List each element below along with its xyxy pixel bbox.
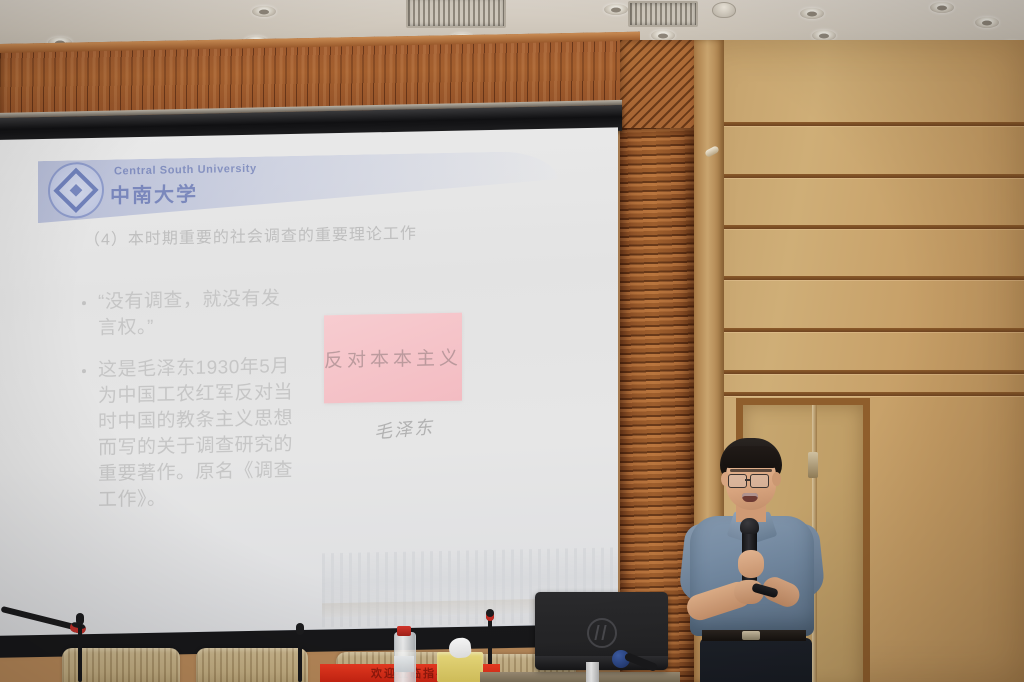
panel-divider — [694, 122, 1024, 126]
trousers — [700, 638, 812, 682]
projection-screen: Central South University 中南大学 （4）本时期重要的社… — [0, 127, 618, 648]
wall-corner-inlay — [620, 40, 698, 140]
eyebrows — [730, 469, 772, 472]
panel-divider — [694, 174, 1024, 178]
list-item: 这是毛泽东1930年5月为中国工农红军反对当时中国的教条主义思想而写的关于调查研… — [78, 354, 293, 514]
chair — [196, 648, 308, 682]
slide: Central South University 中南大学 （4）本时期重要的社… — [0, 127, 618, 648]
book-cover-image: 反对本本主义 — [324, 313, 462, 404]
ear-right — [772, 472, 781, 486]
logo-chinese-text: 中南大学 — [110, 178, 198, 209]
bottle-cap — [397, 626, 411, 636]
downlight-icon — [800, 8, 824, 19]
hair-fringe — [722, 446, 780, 468]
panel-divider — [694, 276, 1024, 280]
bottle-label — [394, 656, 414, 672]
downlight-icon — [930, 2, 954, 13]
mouth — [742, 493, 758, 502]
gooseneck-mic — [298, 630, 302, 682]
belt-buckle — [742, 631, 760, 640]
hp-monitor[interactable] — [535, 592, 668, 670]
downlight-icon — [975, 17, 999, 28]
screenshot-root: Central South University 中南大学 （4）本时期重要的社… — [0, 0, 1024, 682]
slide-title: （4）本时期重要的社会调查的重要理论工作 — [84, 219, 417, 250]
book-signature: 毛泽东 — [373, 413, 435, 444]
glasses-bridge — [745, 479, 751, 481]
hand-holding-microphone — [738, 550, 764, 578]
monitor-stand — [586, 662, 599, 682]
smoke-detector-icon — [712, 2, 736, 18]
tissue-sheet — [448, 637, 472, 659]
presenter — [676, 438, 836, 682]
slide-bullet-list: “没有调查，就没有发言权。” 这是毛泽东1930年5月为中国工农红军反对当时中国… — [78, 286, 293, 530]
panel-divider — [694, 225, 1024, 229]
list-item: “没有调查，就没有发言权。” — [78, 286, 293, 342]
glasses-lens-right — [750, 474, 769, 488]
book-cover-title: 反对本本主义 — [324, 343, 462, 373]
downlight-icon — [252, 6, 276, 17]
glasses-lens-left — [728, 474, 747, 488]
downlight-icon — [604, 4, 628, 15]
panel-divider — [694, 370, 1024, 374]
air-vent — [406, 0, 506, 28]
hp-logo-icon — [587, 618, 617, 648]
panel-divider — [694, 328, 1024, 332]
panel-divider — [694, 392, 1024, 396]
desk-front — [480, 672, 680, 682]
air-vent — [628, 1, 698, 27]
gooseneck-mic — [78, 620, 82, 682]
microphone-head — [740, 518, 759, 534]
